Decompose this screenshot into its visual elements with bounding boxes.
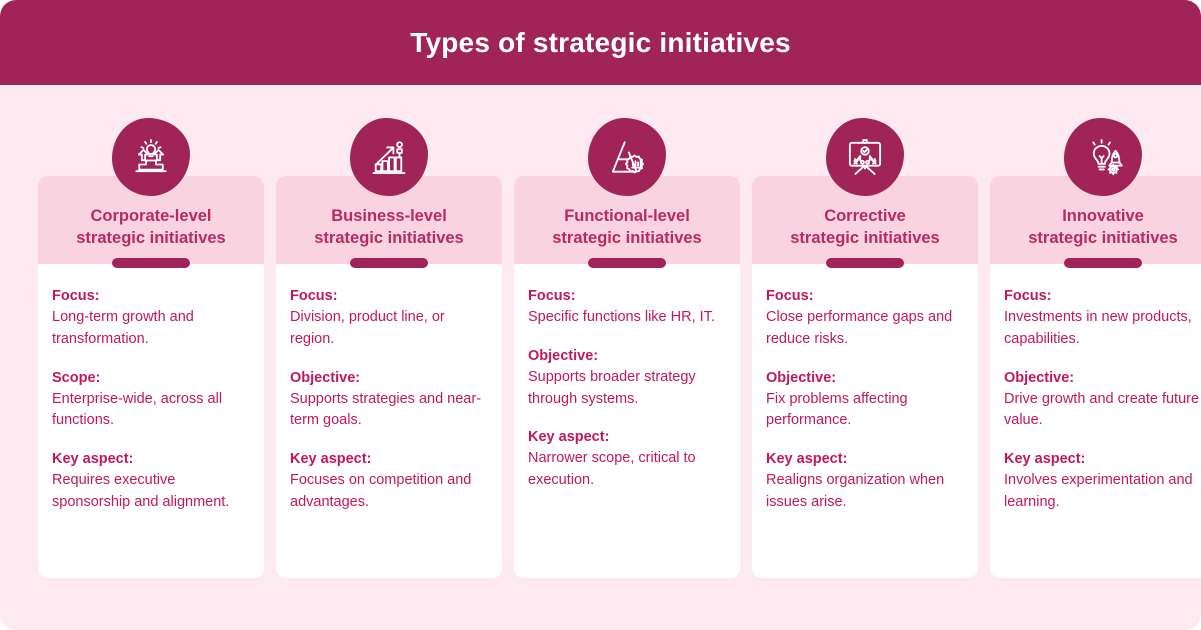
card-body-5: Focus:Investments in new products, capab… xyxy=(990,264,1201,578)
column-5: Innovativestrategic initiativesFocus:Inv… xyxy=(990,118,1201,578)
card-body-4: Focus:Close performance gaps and reduce … xyxy=(752,264,978,578)
field: Key aspect:Focuses on competition and ad… xyxy=(290,449,488,514)
field-label: Objective: xyxy=(766,368,964,389)
field: Objective:Supports strategies and near-t… xyxy=(290,368,488,433)
card-title-line2: strategic initiatives xyxy=(522,228,732,250)
card-title-line2: strategic initiatives xyxy=(284,228,494,250)
field-value: Requires executive sponsorship and align… xyxy=(52,470,250,514)
field-value: Investments in new products, capabilitie… xyxy=(1004,307,1201,351)
column-2: Business-levelstrategic initiativesFocus… xyxy=(276,118,502,578)
page-title: Types of strategic initiatives xyxy=(410,29,791,57)
field-value: Realigns organization when issues arise. xyxy=(766,470,964,514)
field: Key aspect:Realigns organization when is… xyxy=(766,449,964,514)
card-title-line2: strategic initiatives xyxy=(46,228,256,250)
field-label: Focus: xyxy=(1004,286,1201,307)
accent-bar-5 xyxy=(1064,258,1142,268)
column-4: Correctivestrategic initiativesFocus:Clo… xyxy=(752,118,978,578)
field-value: Focuses on competition and advantages. xyxy=(290,470,488,514)
field-value: Supports strategies and near-term goals. xyxy=(290,389,488,433)
field-label: Key aspect: xyxy=(1004,449,1201,470)
field-label: Focus: xyxy=(290,286,488,307)
field-label: Objective: xyxy=(528,346,726,367)
field-label: Focus: xyxy=(52,286,250,307)
field: Focus:Close performance gaps and reduce … xyxy=(766,286,964,351)
field: Focus:Division, product line, or region. xyxy=(290,286,488,351)
field: Key aspect:Requires executive sponsorshi… xyxy=(52,449,250,514)
field: Focus:Specific functions like HR, IT. xyxy=(528,286,726,329)
card-title-line1: Corporate-level xyxy=(46,206,256,228)
field: Focus:Investments in new products, capab… xyxy=(1004,286,1201,351)
accent-bar-4 xyxy=(826,258,904,268)
field: Focus:Long-term growth and transformatio… xyxy=(52,286,250,351)
field: Objective:Drive growth and create future… xyxy=(1004,368,1201,433)
field-label: Objective: xyxy=(290,368,488,389)
card-title-line1: Business-level xyxy=(284,206,494,228)
field-label: Key aspect: xyxy=(766,449,964,470)
field-label: Key aspect: xyxy=(528,427,726,448)
field: Scope:Enterprise-wide, across all functi… xyxy=(52,368,250,433)
field-value: Drive growth and create future value. xyxy=(1004,389,1201,433)
column-container: Corporate-levelstrategic initiativesFocu… xyxy=(38,118,1164,578)
card-title-line1: Innovative xyxy=(998,206,1201,228)
column-3: Functional-levelstrategic initiativesFoc… xyxy=(514,118,740,578)
field-label: Focus: xyxy=(528,286,726,307)
field-label: Key aspect: xyxy=(52,449,250,470)
card-body-2: Focus:Division, product line, or region.… xyxy=(276,264,502,578)
field: Key aspect:Involves experimentation and … xyxy=(1004,449,1201,514)
field-label: Objective: xyxy=(1004,368,1201,389)
card-title-line2: strategic initiatives xyxy=(998,228,1201,250)
field-value: Supports broader strategy through system… xyxy=(528,367,726,411)
card-body-1: Focus:Long-term growth and transformatio… xyxy=(38,264,264,578)
column-1: Corporate-levelstrategic initiativesFocu… xyxy=(38,118,264,578)
accent-bar-2 xyxy=(350,258,428,268)
accent-bar-1 xyxy=(112,258,190,268)
field: Objective:Fix problems affecting perform… xyxy=(766,368,964,433)
card-title-line1: Corrective xyxy=(760,206,970,228)
field-value: Involves experimentation and learning. xyxy=(1004,470,1201,514)
accent-bar-3 xyxy=(588,258,666,268)
field-label: Key aspect: xyxy=(290,449,488,470)
field-value: Enterprise-wide, across all functions. xyxy=(52,389,250,433)
field: Objective:Supports broader strategy thro… xyxy=(528,346,726,411)
field-value: Specific functions like HR, IT. xyxy=(528,307,726,329)
field-value: Narrower scope, critical to execution. xyxy=(528,448,726,492)
card-title-line2: strategic initiatives xyxy=(760,228,970,250)
card-title-line1: Functional-level xyxy=(522,206,732,228)
field-label: Scope: xyxy=(52,368,250,389)
field-value: Long-term growth and transformation. xyxy=(52,307,250,351)
field-value: Division, product line, or region. xyxy=(290,307,488,351)
field-value: Close performance gaps and reduce risks. xyxy=(766,307,964,351)
title-bar: Types of strategic initiatives xyxy=(0,0,1201,85)
card-body-3: Focus:Specific functions like HR, IT.Obj… xyxy=(514,264,740,578)
infographic-root: Types of strategic initiatives Corporate… xyxy=(0,0,1201,630)
field-value: Fix problems affecting performance. xyxy=(766,389,964,433)
field-label: Focus: xyxy=(766,286,964,307)
field: Key aspect:Narrower scope, critical to e… xyxy=(528,427,726,492)
